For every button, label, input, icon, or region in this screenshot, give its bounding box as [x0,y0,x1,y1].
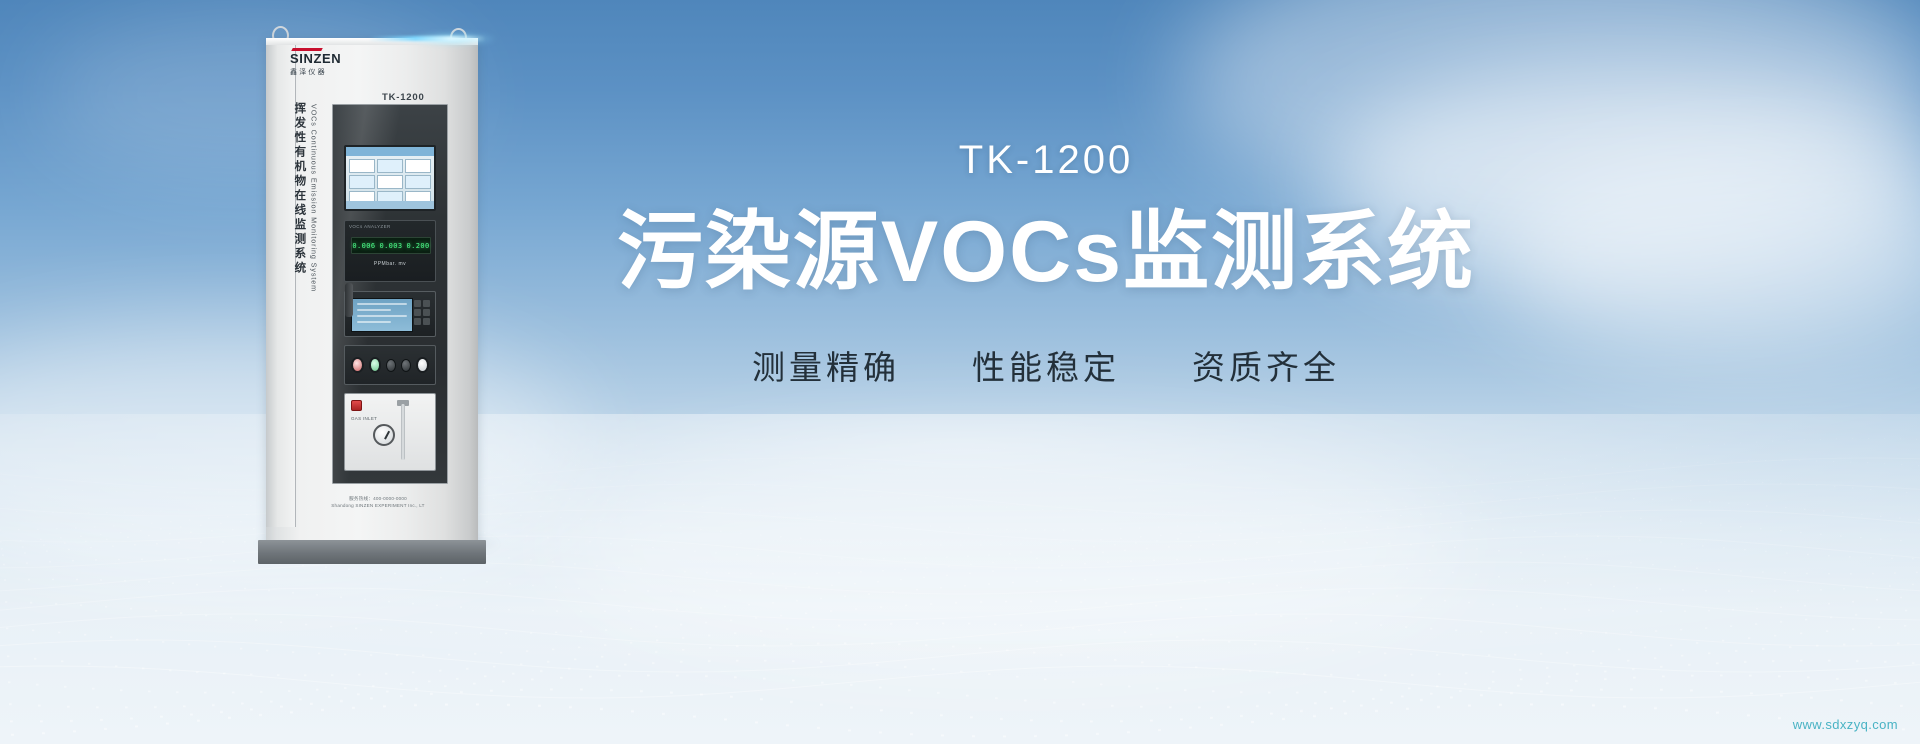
control-panel-row [344,345,436,385]
lcd-line [357,303,407,305]
cabinet-footer-line-2: Shandong SINZEN EXPERIMENT Inc., LT [298,503,458,510]
cabinet-footer-line-1: 服务热线：400-0000-0000 [298,496,458,503]
cabinet-vertical-text-cn: 挥发性有机物在线监测系统 [292,102,306,276]
indicator-meter-icon [416,357,429,373]
cabinet-brand-logo: SINZEN 鑫泽仪器 [290,48,382,77]
brand-name-cn: 鑫泽仪器 [290,67,382,77]
product-cabinet-image: SINZEN 鑫泽仪器 TK-1200 挥发性有机物在线监测系统 VOCs Co… [258,24,488,564]
keypad-key-icon [423,318,430,325]
readout-value: 0.200 [407,242,430,250]
hmi-title-bar [346,147,434,156]
analyzer-unit-label: PPMbar. mv [345,261,435,267]
brand-name: SINZEN [290,52,382,65]
readout-value: 0.003 [379,242,402,250]
control-lcd-module [344,291,436,337]
pressure-gauge-icon [373,424,395,446]
feature-list: 测量精确 性能稳定 资质齐全 [556,341,1536,389]
hmi-tile [349,175,375,189]
indicator-meter-icon [369,357,382,373]
lcd-screen [351,298,413,332]
readout-value: 0.006 [352,242,375,250]
emergency-stop-button-icon [351,400,362,411]
feature-item: 资质齐全 [1192,341,1340,389]
hero-copy-block: TK-1200 污染源VOCs监测系统 测量精确 性能稳定 资质齐全 [556,138,1536,389]
product-hero-banner: SINZEN 鑫泽仪器 TK-1200 挥发性有机物在线监测系统 VOCs Co… [0,0,1920,744]
hmi-status-bar [346,201,434,209]
lcd-line [357,309,391,311]
gas-inlet-panel: GAS INLET [344,393,436,471]
analyzer-panel-label: VOCs ANALYZER [349,224,391,229]
lcd-keypad [414,300,430,325]
site-watermark: www.sdxzyq.com [1793,717,1898,732]
brand-accent-bar-icon [291,48,323,51]
cloud-wash [1500,150,1920,360]
product-model-label: TK-1200 [556,138,1536,182]
control-knob-icon [401,359,411,372]
cabinet-vertical-text: 挥发性有机物在线监测系统 VOCs Continuous Emission Mo… [292,102,326,432]
keypad-key-icon [414,300,421,307]
analyzer-digital-readout: 0.006 0.003 0.200 [351,237,431,254]
keypad-key-icon [423,309,430,316]
keypad-key-icon [423,300,430,307]
door-handle-icon [345,283,353,317]
cabinet-footer-text: 服务热线：400-0000-0000 Shandong SINZEN EXPER… [298,496,458,510]
valves-panel-label: GAS INLET [351,416,377,421]
lcd-line [357,321,391,323]
cabinet-base-plinth [258,540,486,564]
keypad-key-icon [414,318,421,325]
hmi-tile [377,175,403,189]
page-title: 污染源VOCs监测系统 [556,206,1536,299]
cabinet-vertical-text-en: VOCs Continuous Emission Monitoring Syst… [309,104,318,292]
hmi-tile [349,159,375,173]
lcd-line [357,315,407,317]
feature-item: 性能稳定 [972,341,1120,389]
sample-tube-icon [401,404,405,460]
voc-analyzer-module: VOCs ANALYZER 0.006 0.003 0.200 PPMbar. … [344,220,436,282]
cabinet-glass-door: VOCs ANALYZER 0.006 0.003 0.200 PPMbar. … [332,104,448,484]
hmi-touch-screen [344,145,436,211]
feature-item: 测量精确 [752,341,900,389]
control-knob-icon [386,359,396,372]
hmi-tile [405,175,431,189]
keypad-key-icon [414,309,421,316]
cabinet-model-plate: TK-1200 [382,92,425,103]
hmi-tile [405,159,431,173]
light-glow-accent [368,36,486,41]
hmi-tile [377,159,403,173]
indicator-meter-icon [351,357,364,373]
